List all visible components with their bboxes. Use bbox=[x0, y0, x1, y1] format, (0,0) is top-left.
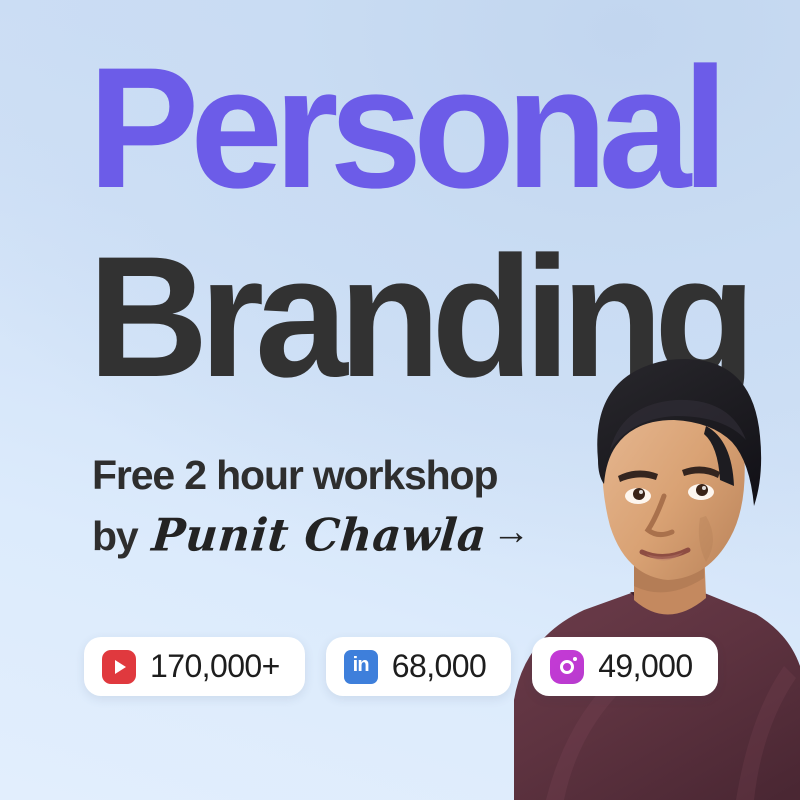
arrow-right-icon: → bbox=[492, 511, 530, 554]
linkedin-follower-count: 68,000 bbox=[392, 648, 486, 685]
subtitle-text: Free 2 hour workshop bbox=[92, 452, 497, 499]
instagram-icon bbox=[550, 650, 584, 684]
headline-line-personal: Personal bbox=[88, 56, 719, 200]
presenter-photo bbox=[506, 300, 800, 800]
byline-presenter-name: Punit Chawla bbox=[149, 509, 488, 561]
iris-left bbox=[633, 488, 645, 500]
stat-badge-youtube[interactable]: 170,000+ bbox=[84, 637, 305, 696]
youtube-icon bbox=[102, 650, 136, 684]
eye-glint-right bbox=[702, 486, 706, 490]
social-stats-row: 170,000+ in 68,000 49,000 bbox=[84, 637, 718, 696]
stat-badge-instagram[interactable]: 49,000 bbox=[532, 637, 717, 696]
linkedin-icon: in bbox=[344, 650, 378, 684]
byline: by Punit Chawla → bbox=[92, 510, 530, 561]
byline-prefix: by bbox=[92, 513, 138, 560]
instagram-follower-count: 49,000 bbox=[598, 648, 692, 685]
stat-badge-linkedin[interactable]: in 68,000 bbox=[326, 637, 511, 696]
presenter-illustration bbox=[506, 300, 800, 800]
youtube-subscriber-count: 170,000+ bbox=[150, 648, 280, 685]
iris-right bbox=[696, 484, 708, 496]
eye-glint-left bbox=[639, 490, 643, 494]
promo-poster: Branding bbox=[0, 0, 800, 800]
